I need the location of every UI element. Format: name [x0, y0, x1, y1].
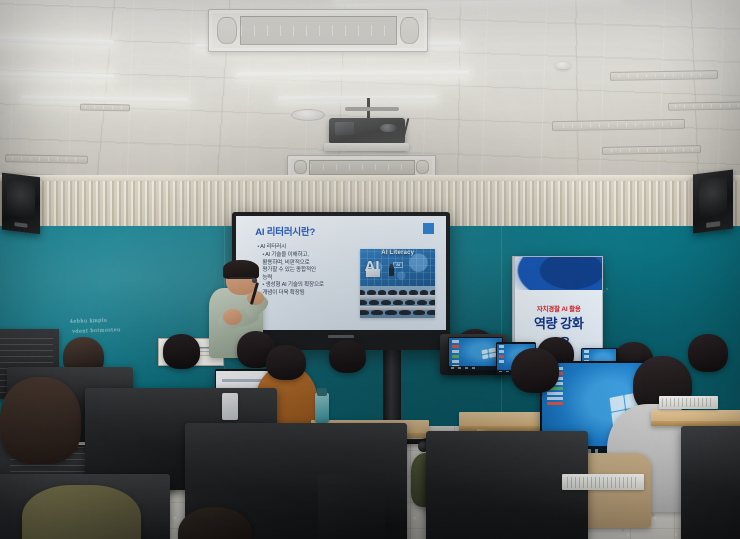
slide-bullet-3-line-2: 개념이 더욱 확장됨 [257, 290, 353, 297]
classroom-photo: 4ebhu kmplu vdent botmosteu ﻿"ApBpiv Kmp… [0, 0, 740, 539]
chair-back [318, 474, 385, 539]
student-head-foreground [0, 377, 81, 463]
ceiling-shading [0, 0, 740, 197]
slide-illustration: AI AI AI Literacy [360, 249, 435, 318]
slide-bullet-2-line-1: AI 기술을 이해하고, [257, 252, 353, 259]
speaker-badge [15, 222, 28, 228]
audience-desk-row [360, 295, 435, 299]
banner-main-line-1: 역량 강화 [515, 317, 602, 331]
keyboard-icon[interactable] [562, 474, 643, 490]
bottle-cap [317, 388, 327, 396]
banner-subtitle: 자치경찰 AI 활용 [515, 303, 602, 313]
slide-corner-accent [423, 223, 434, 234]
mon-windows-mid[interactable] [448, 337, 504, 371]
water-bottle-icon [222, 393, 238, 420]
display-screen: AI 리터러시란? AI 리터러시 AI 기술을 이해하고, 활용하며, 비판적… [236, 216, 446, 340]
microphone-head [252, 278, 257, 283]
monitor-back [681, 426, 740, 539]
slide-bullet-2-line-4: 능력 [257, 275, 353, 282]
slide-bullet-2-line-2: 활용하며, 비판적으로 [257, 260, 353, 267]
ceiling [0, 0, 740, 197]
display-brand-logo [328, 335, 354, 338]
audience-row [360, 300, 435, 305]
slide-illustration-whiteboard [366, 269, 380, 277]
slide-illustration-presenter [389, 264, 394, 276]
board-handwriting-left: 4ebhu kmplu vdent botmosteu [70, 316, 121, 337]
presentation-display[interactable]: AI 리터러시란? AI 리터러시 AI 기술을 이해하고, 활용하며, 비판적… [232, 212, 450, 350]
slide-illustration-audience [360, 286, 435, 318]
speaker-icon [693, 170, 733, 234]
slide-body: AI 리터러시 AI 기술을 이해하고, 활용하며, 비판적으로 평가할 수 있… [257, 244, 353, 297]
student-head [688, 334, 728, 372]
presenter-hand-left [223, 309, 242, 325]
water-bottle-icon [315, 393, 330, 423]
audience-desk-row [360, 306, 435, 310]
desktop-icons [499, 345, 504, 363]
slide-title: AI 리터러시란? [255, 224, 315, 238]
student-head [329, 340, 366, 373]
student-jacket-olive [22, 485, 140, 539]
banner-graphic [514, 256, 603, 290]
desk [651, 410, 740, 426]
keyboard-icon[interactable] [659, 396, 718, 409]
student-head [163, 334, 200, 368]
windows-taskbar[interactable] [449, 366, 502, 369]
student-head [266, 345, 306, 380]
desktop-icons [452, 340, 459, 368]
slide-bullet-3-line-1: 생성형 AI 기술의 확장으로 [257, 282, 353, 289]
student-head [511, 348, 560, 394]
audience-row [360, 310, 435, 315]
slide-bullet-1: AI 리터러시 [257, 244, 353, 251]
speaker-badge [706, 221, 720, 227]
slide-illustration-headline: AI Literacy [360, 250, 435, 256]
speaker-icon [2, 173, 40, 234]
slide-illustration-chip: AI [393, 262, 403, 268]
windows-desktop [449, 338, 502, 369]
presenter-glasses [229, 277, 254, 279]
presenter-hair [223, 260, 259, 278]
windows-logo-icon [481, 348, 496, 360]
slide-bullet-2-line-3: 평가할 수 있는 종합적인 [257, 267, 353, 274]
